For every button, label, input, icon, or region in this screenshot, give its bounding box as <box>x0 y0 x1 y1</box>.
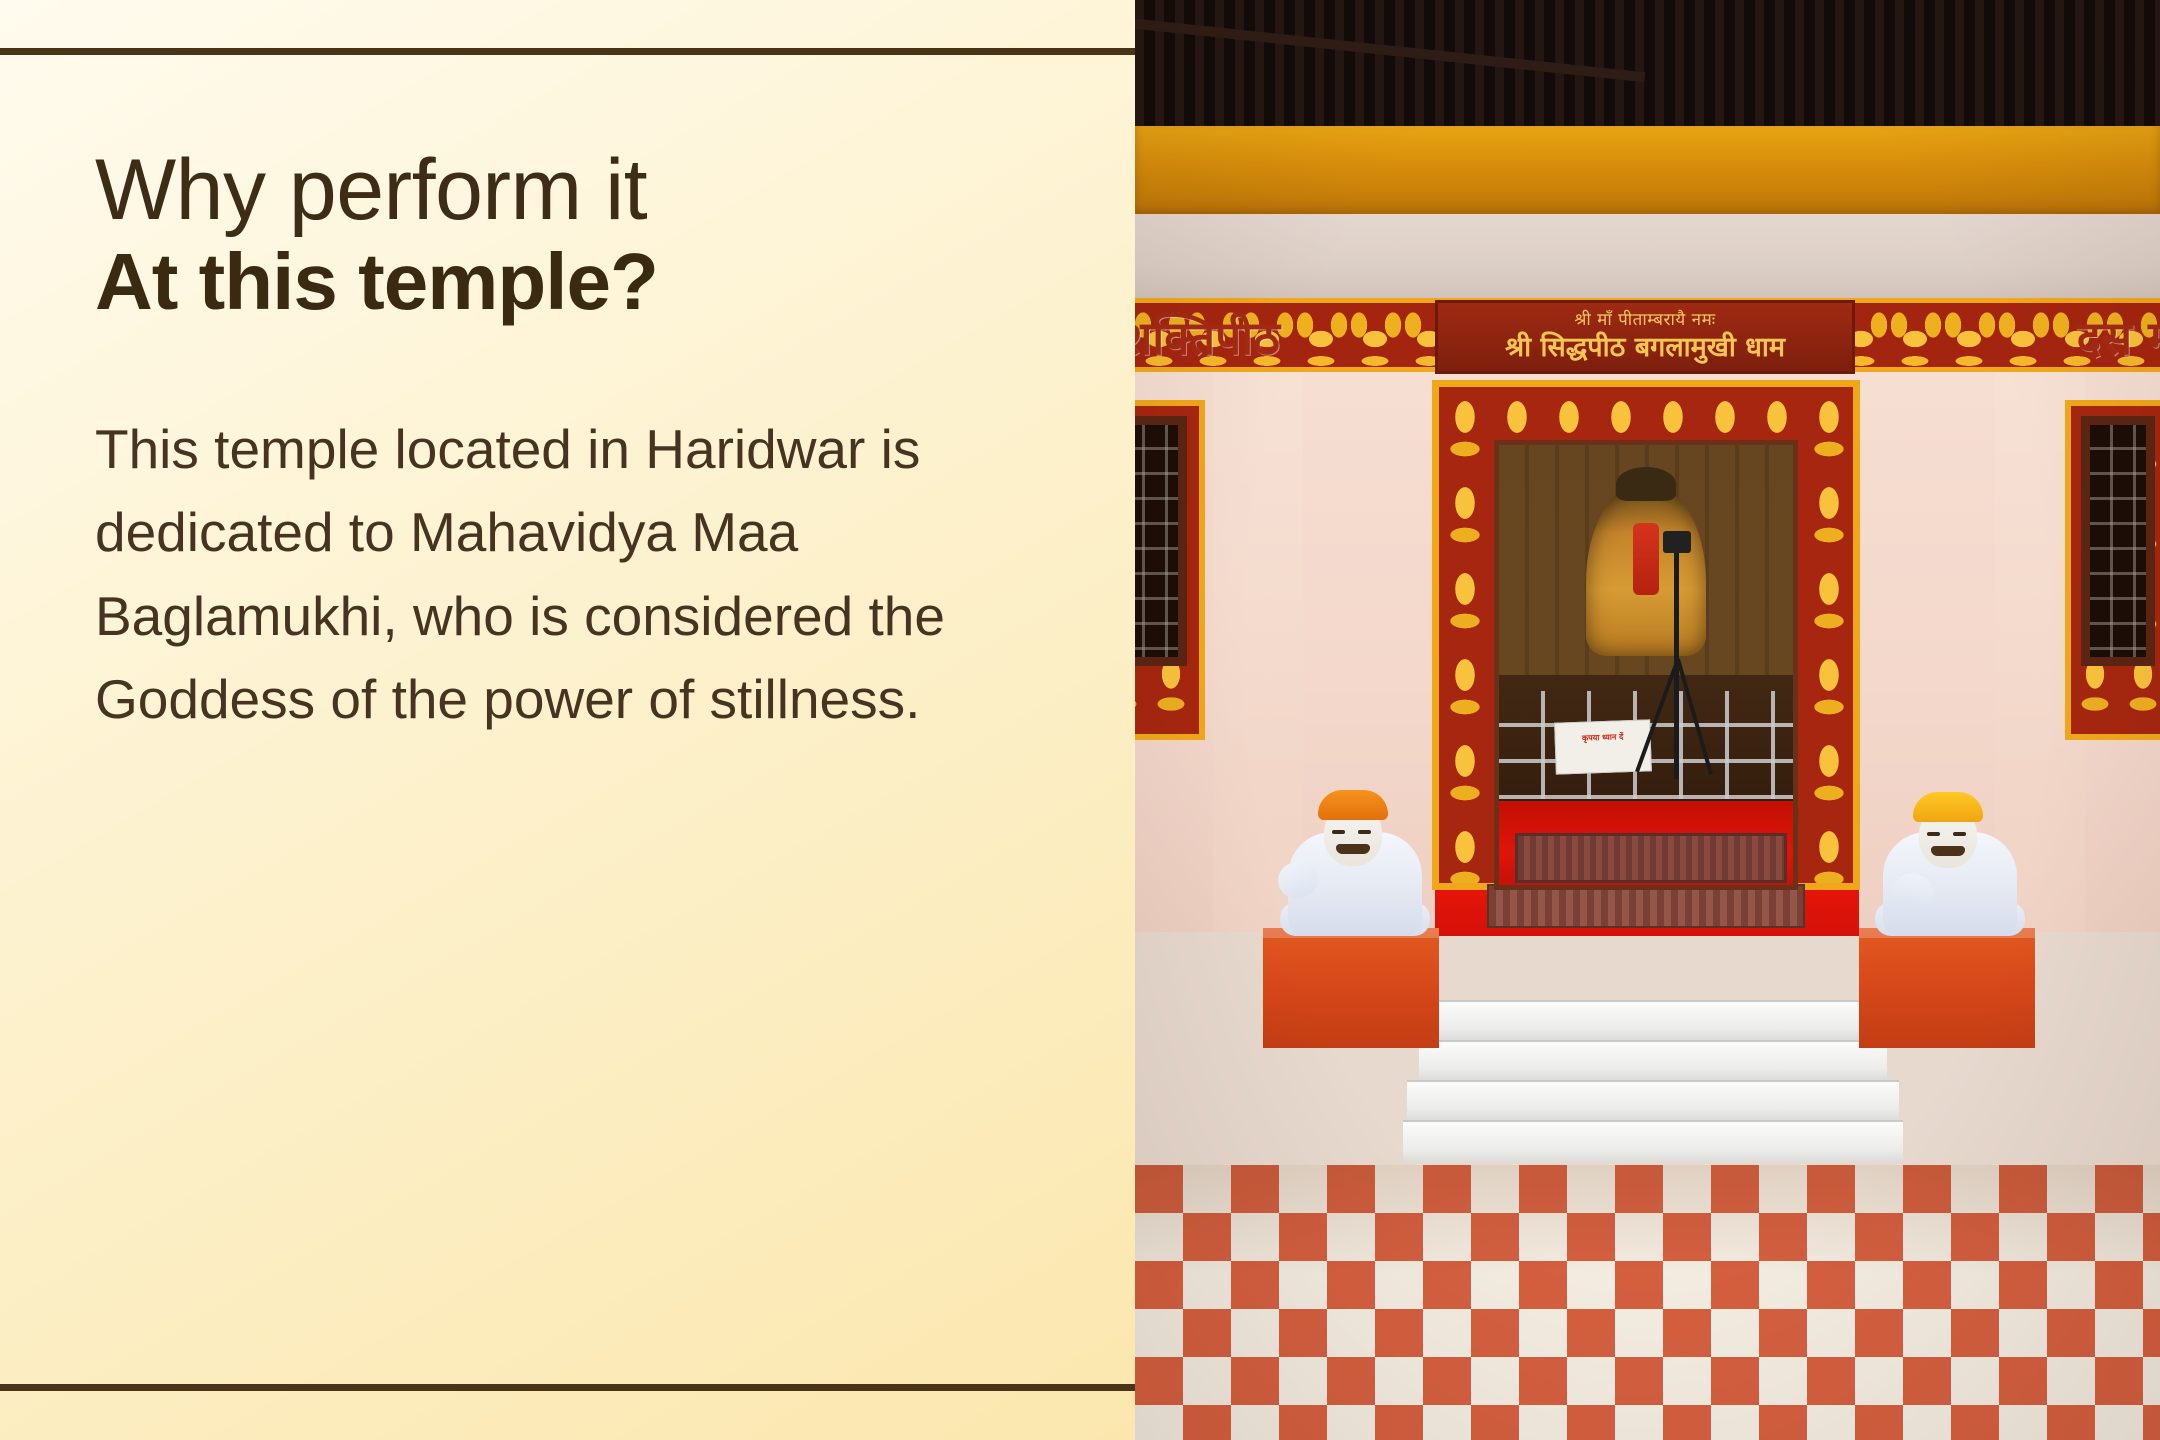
guardian-statue-left <box>1280 788 1430 936</box>
divider-bottom <box>0 1384 1135 1391</box>
barred-window-left <box>1135 416 1187 666</box>
porch-rug <box>1487 884 1805 928</box>
window-panel-right <box>2065 400 2160 740</box>
tripod-camera <box>1674 549 1679 779</box>
temple-photo: शक्तिपीठ दस महा श्री माँ पीताम्बरायै नमः… <box>1135 0 2160 1440</box>
body-paragraph: This temple located in Haridwar is dedic… <box>95 408 995 742</box>
temple-signboard: श्री माँ पीताम्बरायै नमः श्री सिद्धपीठ ब… <box>1435 300 1855 374</box>
sanctum-red-floor <box>1499 801 1793 885</box>
signboard-big-line: श्री सिद्धपीठ बगलामुखी धाम <box>1505 332 1785 363</box>
statue-eye-right <box>1953 832 1966 836</box>
ceiling-beam <box>1135 8 1645 82</box>
statue-eye-left <box>1332 830 1345 834</box>
pedestal-right <box>1859 928 2035 1048</box>
step-3 <box>1407 1080 1899 1120</box>
headline-line-2: At this temple? <box>95 235 1055 329</box>
pale-band <box>1135 214 2160 300</box>
headline-line-1: Why perform it <box>95 145 1055 235</box>
camera-head <box>1663 531 1691 553</box>
marble-steps <box>1403 1000 1903 1162</box>
statue-eye-left <box>1927 832 1940 836</box>
statue-eye-right <box>1358 830 1371 834</box>
sanctum-rug <box>1515 833 1787 883</box>
idol-garland <box>1633 523 1659 595</box>
sanctum-interior: कृपया ध्यान दें <box>1494 440 1798 890</box>
barred-window-right <box>2081 416 2155 666</box>
window-panel-left <box>1135 400 1205 740</box>
statue-moustache <box>1931 846 1965 856</box>
slide-root: Why perform it At this temple? This temp… <box>0 0 2160 1440</box>
checkerboard-floor <box>1135 1165 2160 1440</box>
floor-shading <box>1135 1165 2160 1440</box>
side-sign-right: दस महा <box>2077 306 2160 370</box>
guardian-statue-right <box>1875 790 2025 936</box>
divider-top <box>0 48 1135 55</box>
text-block: Why perform it At this temple? This temp… <box>95 145 1055 742</box>
step-4 <box>1403 1120 1903 1162</box>
step-2 <box>1419 1040 1887 1080</box>
pedestal-left <box>1263 928 1439 1048</box>
text-panel: Why perform it At this temple? This temp… <box>0 0 1135 1440</box>
gold-beam <box>1135 126 2160 216</box>
sanctum-notice-text: कृपया ध्यान दें <box>1562 733 1644 745</box>
step-1 <box>1434 1000 1872 1040</box>
statue-turban <box>1913 792 1983 822</box>
side-sign-left: शक्तिपीठ <box>1135 306 1280 370</box>
idol-crown <box>1616 467 1676 501</box>
signboard-small-line: श्री माँ पीताम्बरायै नमः <box>1574 311 1715 330</box>
page-title: Why perform it At this temple? <box>95 145 1055 330</box>
ceiling <box>1135 0 2160 128</box>
statue-moustache <box>1336 844 1370 854</box>
statue-turban <box>1318 790 1388 820</box>
